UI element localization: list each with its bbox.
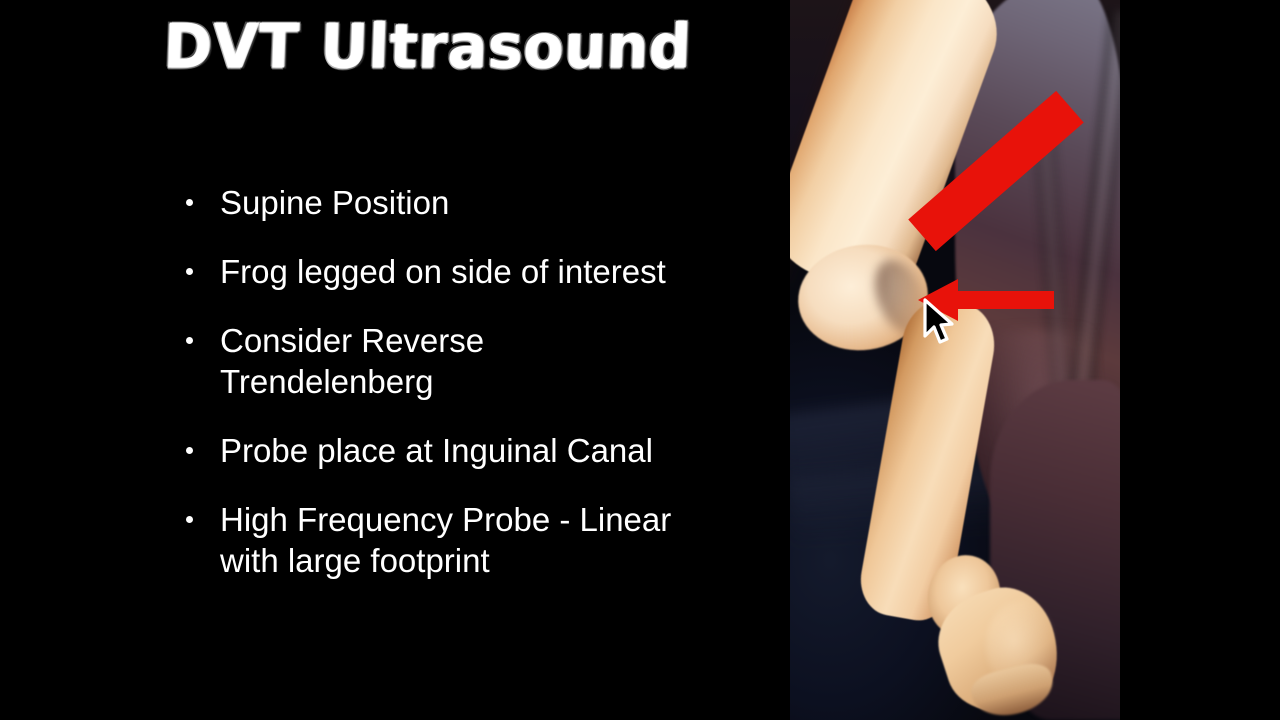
patient-leg-photo [790, 0, 1120, 720]
bullet-dot-icon [186, 516, 193, 523]
bullet-dot-icon [186, 199, 193, 206]
bullet-dot-icon [186, 268, 193, 275]
bullet-text: Supine Position [220, 182, 762, 223]
slide-bullet-list: Supine Position Frog legged on side of i… [182, 182, 762, 581]
bullet-dot-icon [186, 447, 193, 454]
slide-title: DVT Ultrasound [162, 8, 765, 93]
mouse-cursor [922, 298, 956, 344]
bullet-item-high-frequency-probe: High Frequency Probe - Linear with large… [182, 499, 762, 581]
presentation-slide: DVT Ultrasound Supine Position Frog legg… [0, 0, 1280, 720]
bullet-item-frog-legged: Frog legged on side of interest [182, 251, 762, 292]
bullet-item-probe-inguinal: Probe place at Inguinal Canal [182, 430, 762, 471]
bullet-text: Frog legged on side of interest [220, 251, 762, 292]
bullet-text: Probe place at Inguinal Canal [220, 430, 762, 471]
bullet-item-reverse-trendelenberg: Consider Reverse Trendelenberg [182, 320, 762, 402]
slide-text-panel: DVT Ultrasound Supine Position Frog legg… [0, 0, 790, 720]
bullet-item-supine-position: Supine Position [182, 182, 762, 223]
bullet-text: High Frequency Probe - Linear with large… [220, 499, 762, 581]
bullet-dot-icon [186, 337, 193, 344]
bullet-text: Consider Reverse Trendelenberg [220, 320, 762, 402]
